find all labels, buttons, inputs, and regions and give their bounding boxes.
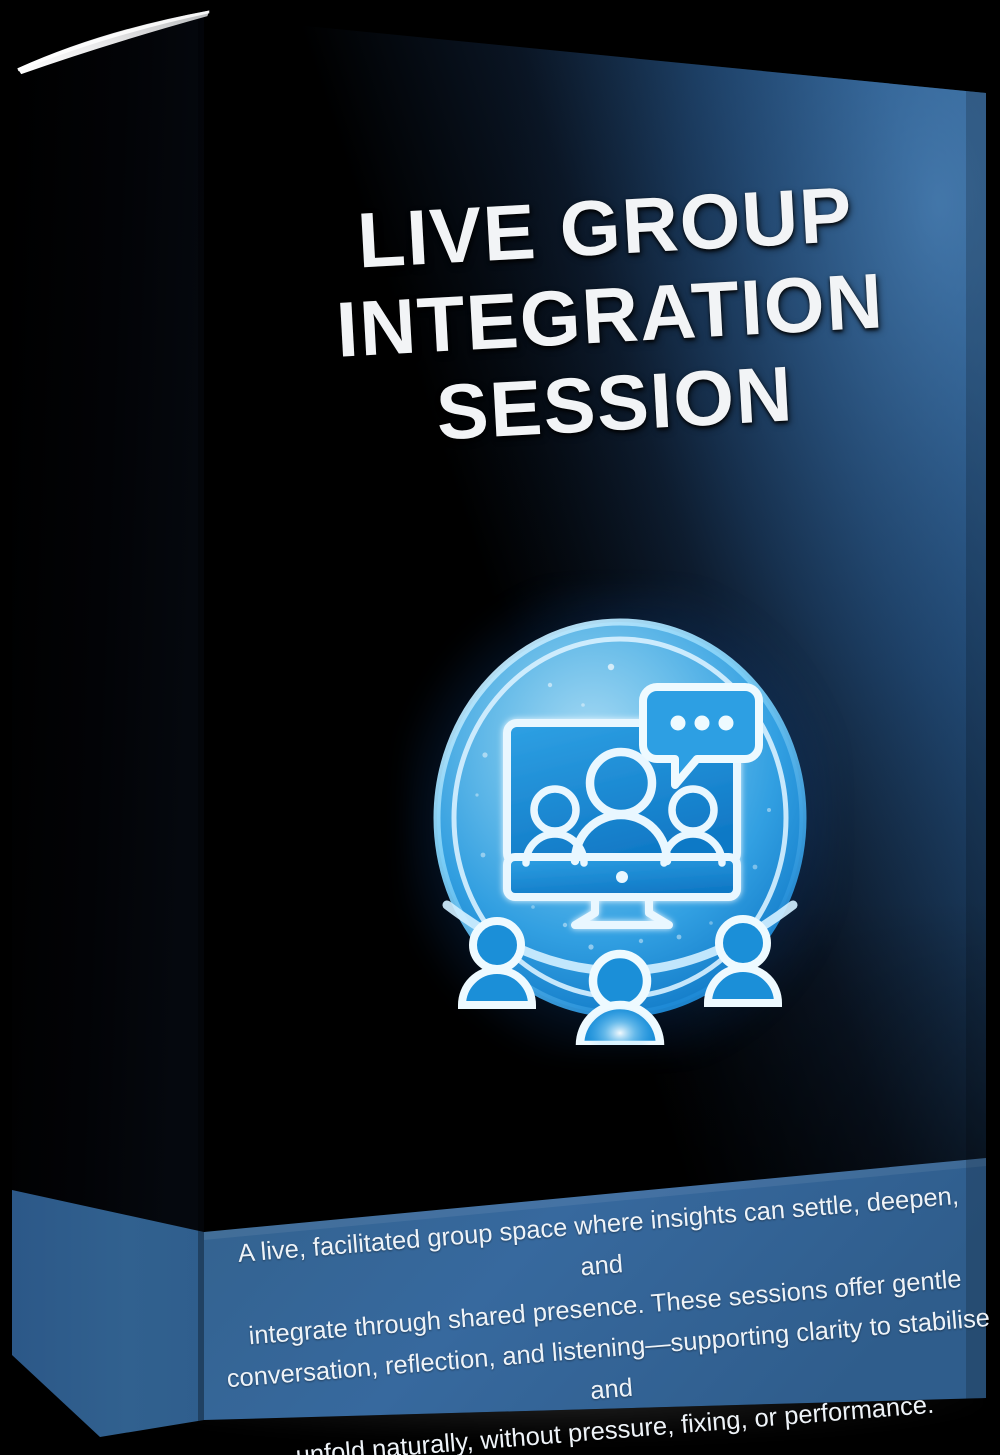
box-top-lid	[0, 0, 240, 95]
box-front-panel	[0, 0, 1000, 1455]
product-carton: LIVE GROUP INTEGRATION SESSION	[0, 0, 1000, 1455]
product-box-mockup-canvas: LIVE GROUP INTEGRATION SESSION	[0, 0, 1000, 1455]
